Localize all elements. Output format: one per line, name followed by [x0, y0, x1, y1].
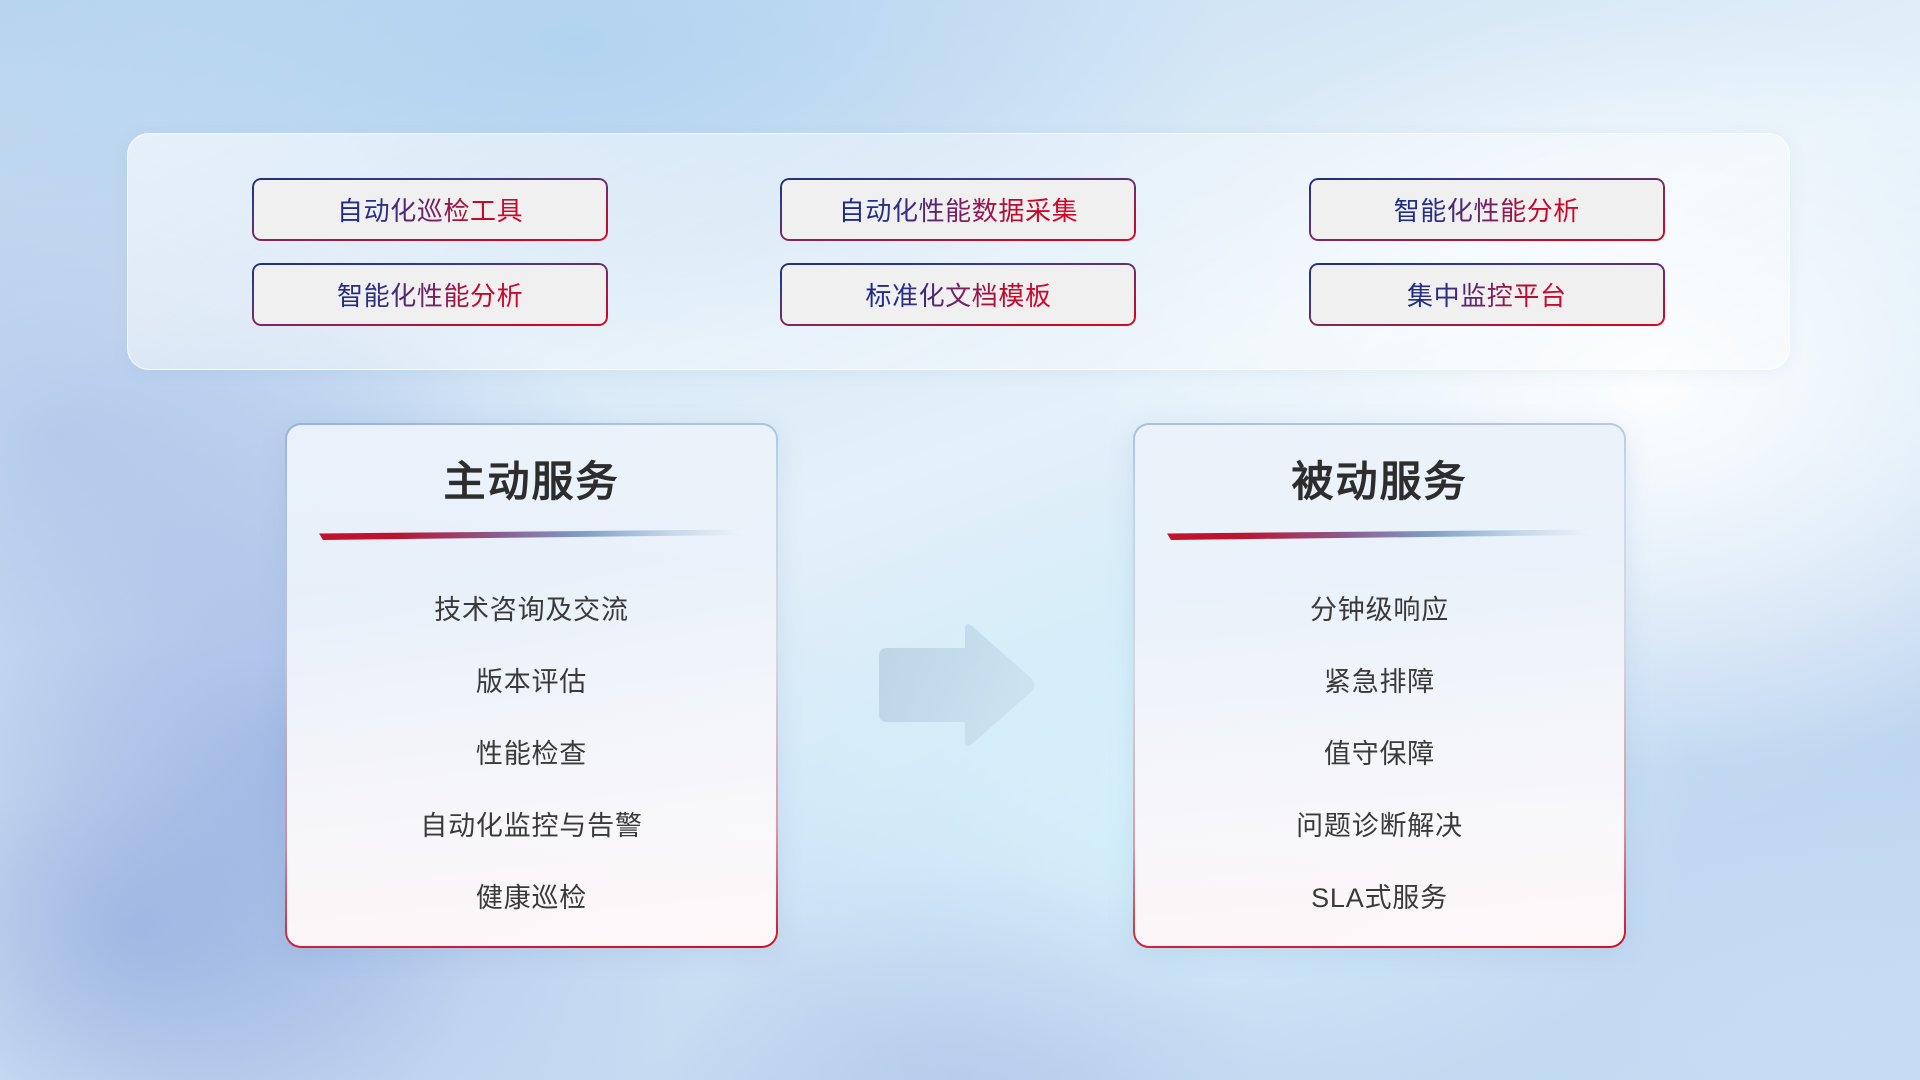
service-item: 版本评估 — [476, 646, 587, 718]
service-item: 健康巡检 — [476, 862, 587, 934]
service-card-title: 被动服务 — [1291, 457, 1467, 507]
service-item: 技术咨询及交流 — [434, 574, 629, 646]
service-item-list: 技术咨询及交流 版本评估 性能检查 自动化监控与告警 健康巡检 — [287, 574, 776, 934]
service-item: 问题诊断解决 — [1296, 790, 1463, 862]
service-card-inner: 主动服务 技术咨询及交流 版本评估 性能检查 — [287, 425, 776, 946]
tool-pill-automation-inspection[interactable]: 自动化巡检工具 — [252, 178, 608, 241]
service-item: 性能检查 — [476, 718, 587, 790]
tool-pill-centralized-monitoring-platform[interactable]: 集中监控平台 — [1309, 263, 1665, 326]
title-divider — [1167, 529, 1592, 541]
tool-pill-label: 集中监控平台 — [1407, 276, 1567, 313]
tool-pill-label: 智能化性能分析 — [1394, 191, 1580, 228]
tool-pill-standard-doc-template[interactable]: 标准化文档模板 — [780, 263, 1136, 326]
service-card-active[interactable]: 主动服务 技术咨询及交流 版本评估 性能检查 — [285, 423, 778, 948]
tool-pill-intelligent-performance-analysis-2[interactable]: 智能化性能分析 — [1309, 178, 1665, 241]
tool-pill-label: 自动化巡检工具 — [337, 191, 523, 228]
tool-pill-label: 智能化性能分析 — [337, 276, 523, 313]
service-item: 自动化监控与告警 — [420, 790, 642, 862]
tools-column-3: 智能化性能分析 集中监控平台 — [1309, 178, 1665, 326]
service-item-list: 分钟级响应 紧急排障 值守保障 问题诊断解决 SLA式服务 — [1135, 574, 1624, 934]
tool-pill-label: 自动化性能数据采集 — [839, 191, 1078, 228]
service-item: SLA式服务 — [1311, 862, 1448, 934]
tool-pill-performance-data-collection[interactable]: 自动化性能数据采集 — [780, 178, 1136, 241]
tool-pill-intelligent-performance-analysis-1[interactable]: 智能化性能分析 — [252, 263, 608, 326]
tools-column-1: 自动化巡检工具 智能化性能分析 — [252, 178, 608, 326]
service-item: 分钟级响应 — [1310, 574, 1449, 646]
service-item: 紧急排障 — [1324, 646, 1435, 718]
tool-pill-label: 标准化文档模板 — [865, 276, 1051, 313]
title-divider — [319, 529, 744, 541]
service-card-title: 主动服务 — [443, 457, 619, 507]
tools-panel: 自动化巡检工具 智能化性能分析 自动化性能数据采集 标准化文档模板 智能化性能分… — [127, 133, 1790, 370]
right-arrow-icon — [873, 620, 1038, 750]
service-card-inner: 被动服务 分钟级响应 紧急排障 值守保障 — [1135, 425, 1624, 946]
tools-column-2: 自动化性能数据采集 标准化文档模板 — [780, 178, 1136, 326]
service-card-passive[interactable]: 被动服务 分钟级响应 紧急排障 值守保障 — [1133, 423, 1626, 948]
service-item: 值守保障 — [1324, 718, 1435, 790]
